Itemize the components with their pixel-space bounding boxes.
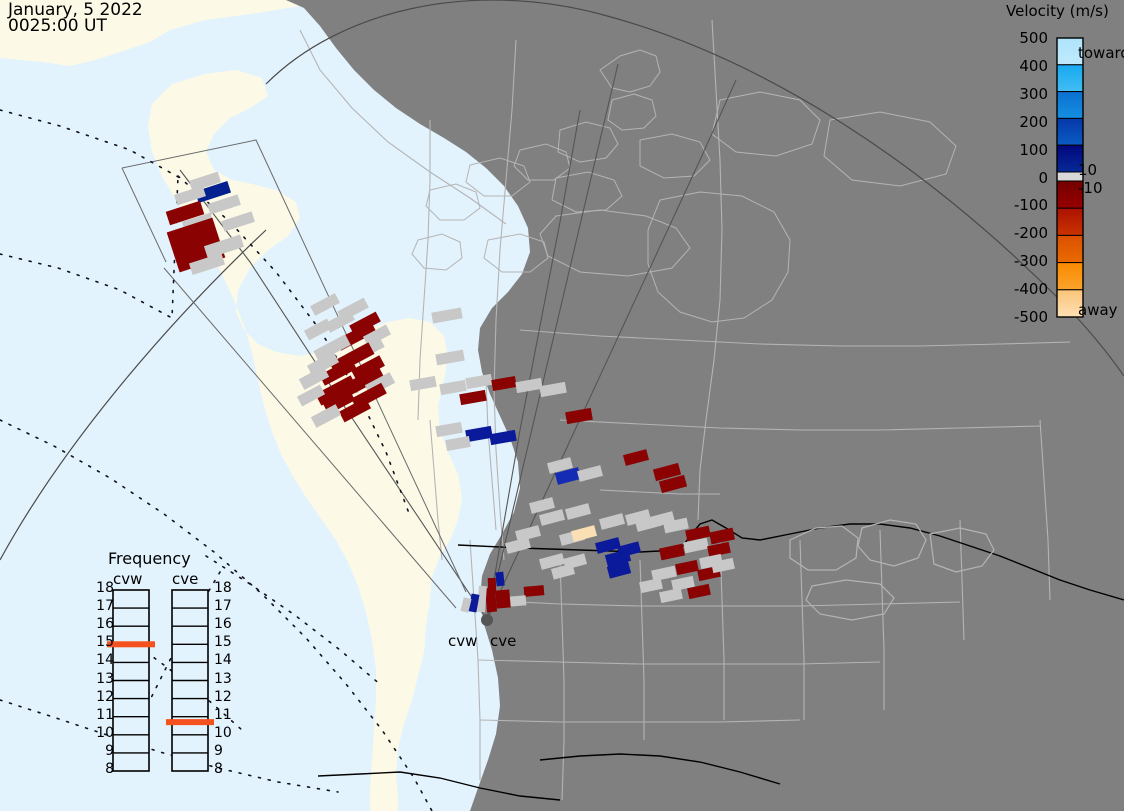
fan-plot-canvas: January, 5 2022 0025:00 UT cvw cve Veloc… bbox=[0, 0, 1124, 811]
frequency-tick-label: 9 bbox=[92, 743, 114, 759]
frequency-marker bbox=[107, 641, 155, 647]
frequency-tick-label: 8 bbox=[214, 761, 236, 777]
frequency-legend-bars bbox=[0, 0, 1124, 811]
frequency-tick-label: 12 bbox=[214, 689, 236, 705]
frequency-tick-label: 9 bbox=[214, 743, 236, 759]
frequency-tick-label: 16 bbox=[92, 616, 114, 632]
frequency-tick-label: 16 bbox=[214, 616, 236, 632]
frequency-tick-label: 10 bbox=[214, 725, 236, 741]
frequency-tick-label: 13 bbox=[92, 671, 114, 687]
frequency-tick-label: 13 bbox=[214, 671, 236, 687]
frequency-tick-label: 18 bbox=[214, 580, 236, 596]
frequency-tick-label: 15 bbox=[214, 634, 236, 650]
frequency-tick-label: 14 bbox=[214, 652, 236, 668]
frequency-tick-label: 17 bbox=[214, 598, 236, 614]
frequency-tick-label: 8 bbox=[92, 761, 114, 777]
frequency-tick-label: 15 bbox=[92, 634, 114, 650]
frequency-tick-label: 18 bbox=[92, 580, 114, 596]
frequency-tick-label: 11 bbox=[214, 707, 236, 723]
frequency-tick-label: 10 bbox=[92, 725, 114, 741]
frequency-tick-label: 14 bbox=[92, 652, 114, 668]
frequency-tick-label: 12 bbox=[92, 689, 114, 705]
frequency-marker bbox=[166, 719, 214, 725]
frequency-tick-label: 17 bbox=[92, 598, 114, 614]
frequency-tick-label: 11 bbox=[92, 707, 114, 723]
